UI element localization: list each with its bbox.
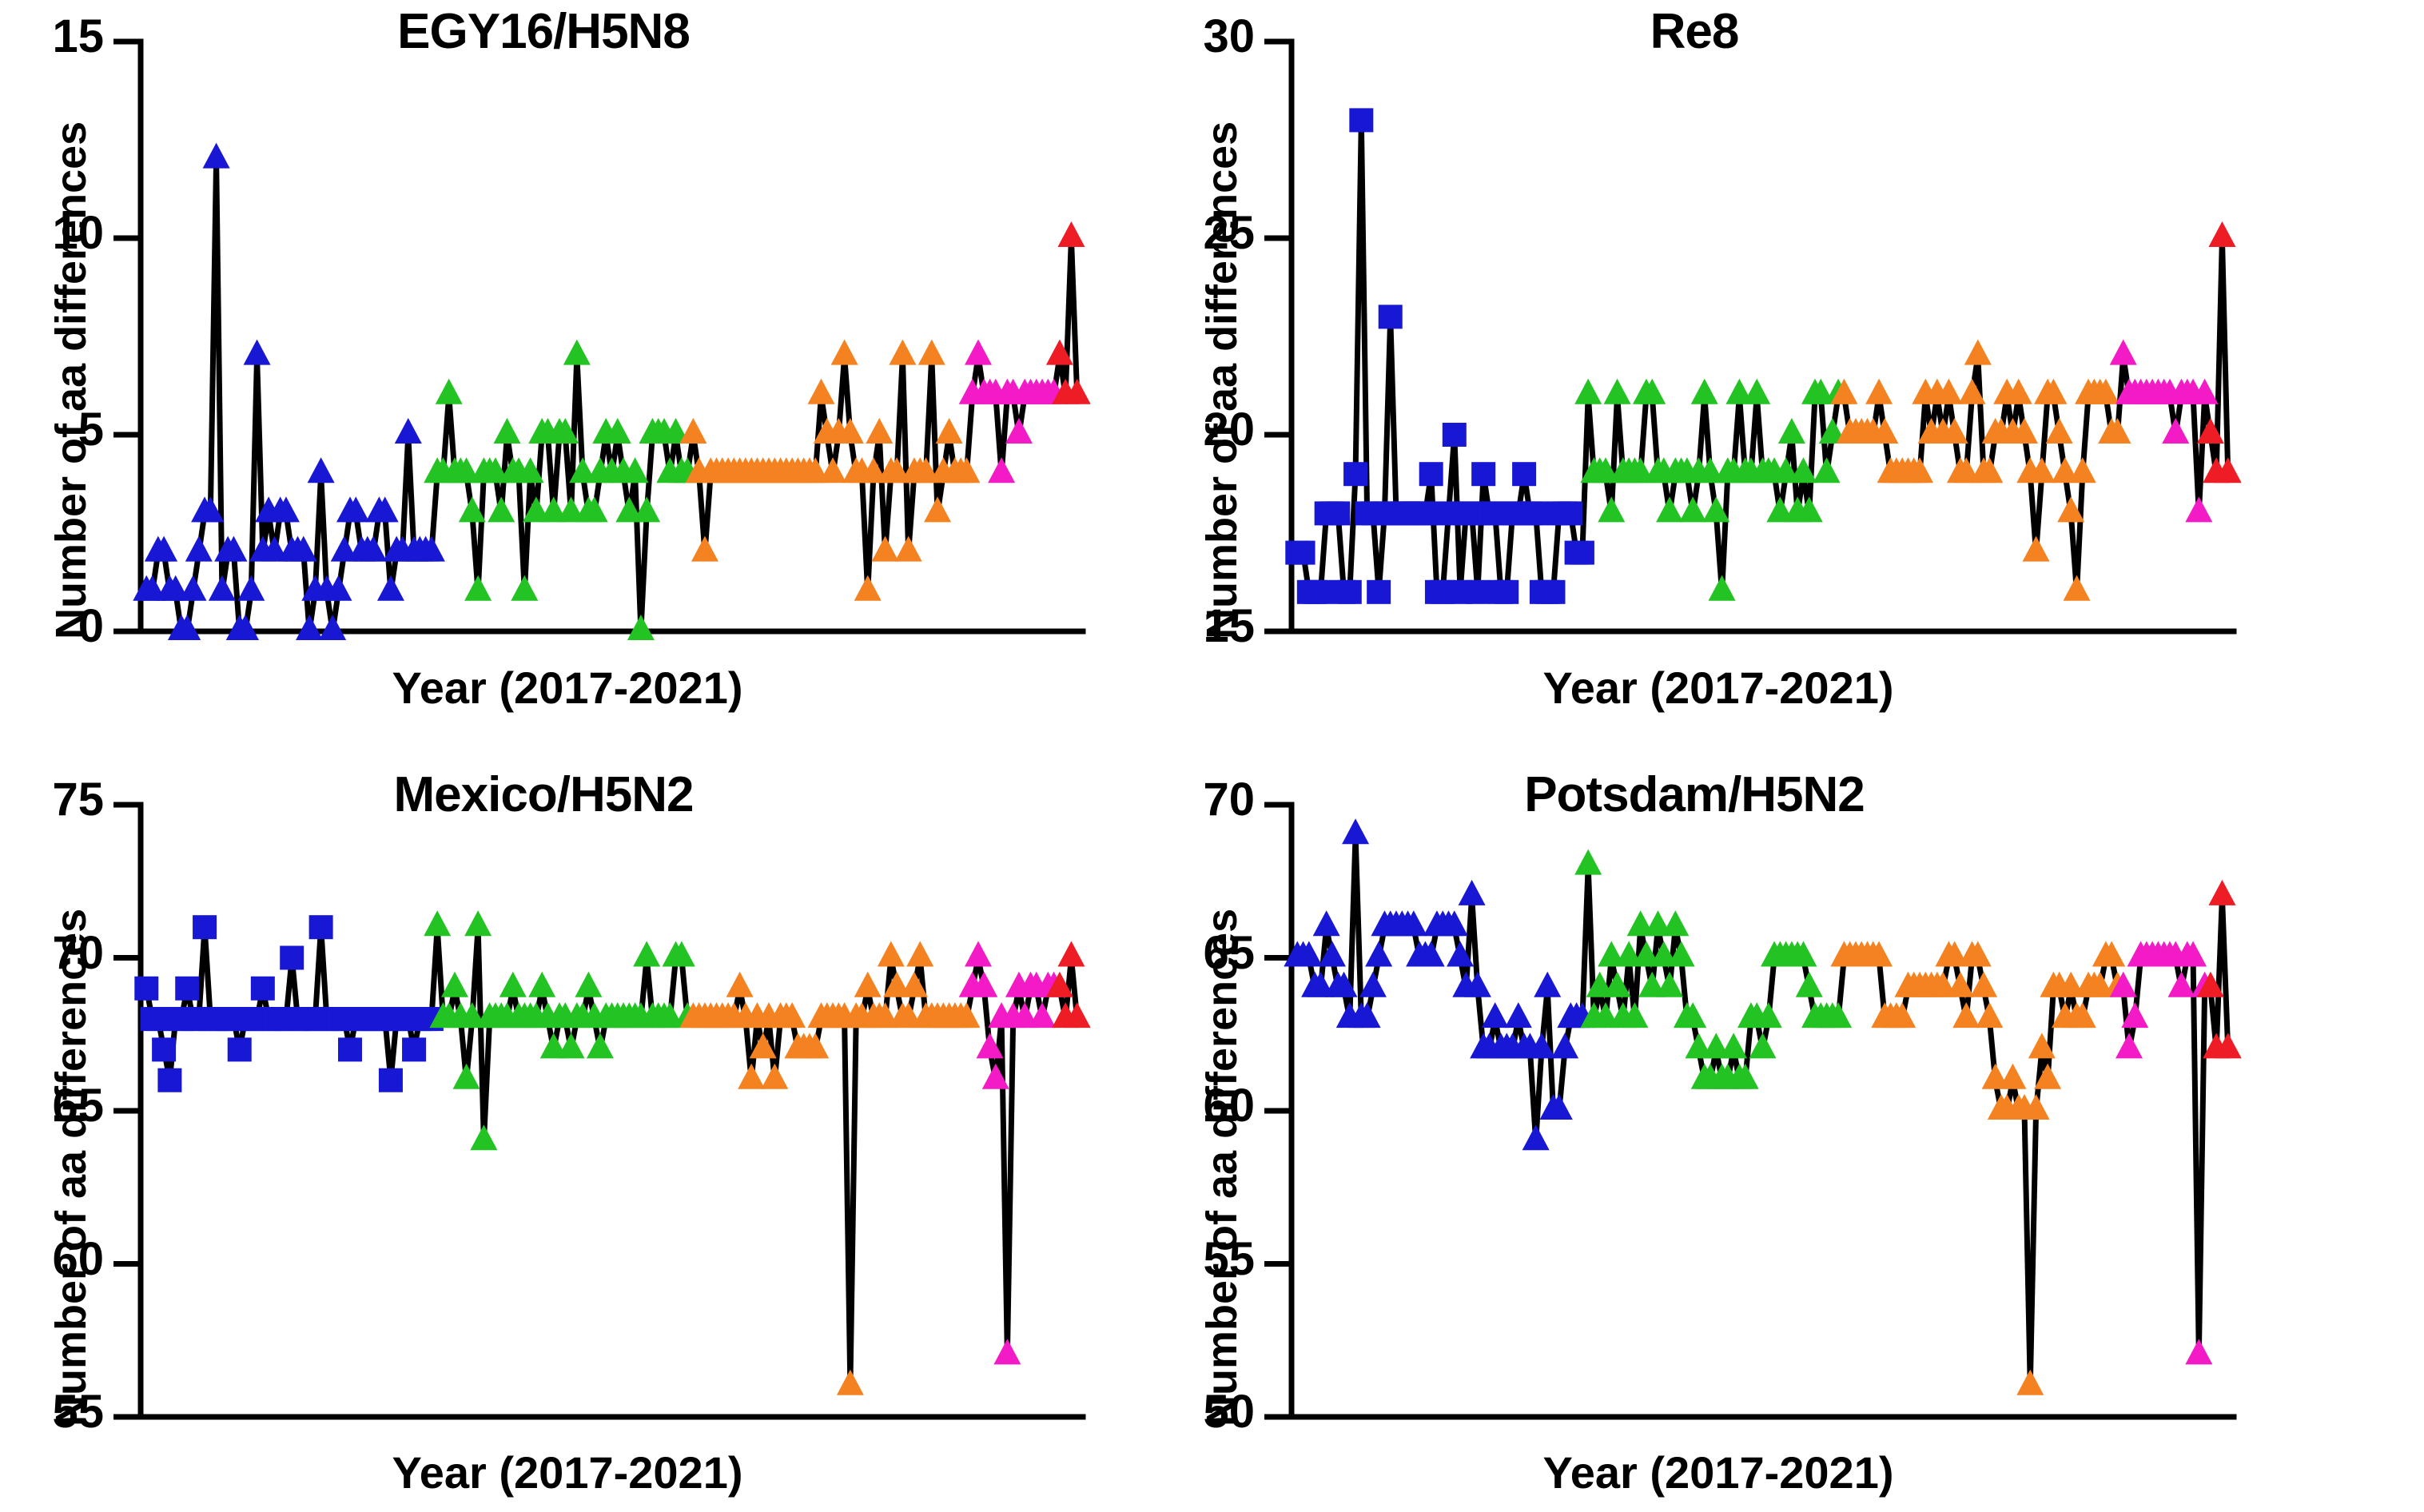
data-point-marker bbox=[878, 941, 905, 967]
data-point-marker bbox=[993, 1339, 1021, 1364]
data-point-marker bbox=[889, 340, 916, 365]
data-point-marker bbox=[837, 1370, 864, 1395]
plot-area-re8 bbox=[1151, 0, 2318, 703]
data-point-marker bbox=[1326, 501, 1350, 525]
data-point-marker bbox=[575, 972, 602, 997]
data-point-marker bbox=[180, 575, 207, 601]
series-connector-line bbox=[146, 927, 1077, 1387]
data-point-marker bbox=[1367, 580, 1391, 604]
panel-potsdam-h5n2: Potsdam/H5N2 Number of aa differences Ye… bbox=[1151, 763, 2318, 1510]
data-point-marker bbox=[500, 972, 527, 997]
data-point-marker bbox=[1534, 972, 1561, 997]
data-point-marker bbox=[1691, 379, 1718, 404]
data-point-marker bbox=[726, 972, 754, 997]
data-point-marker bbox=[1308, 580, 1332, 604]
data-point-marker bbox=[338, 1037, 362, 1061]
data-point-marker bbox=[1542, 580, 1566, 604]
data-point-marker bbox=[587, 1033, 614, 1058]
data-point-marker bbox=[1379, 304, 1403, 328]
panel-re8: Re8 Number of aa differences Year (2017-… bbox=[1151, 0, 2318, 735]
data-point-marker bbox=[193, 915, 217, 939]
data-point-marker bbox=[918, 340, 945, 365]
data-point-marker bbox=[1656, 972, 1683, 997]
data-point-marker bbox=[831, 340, 858, 365]
data-point-marker bbox=[1778, 418, 1805, 444]
figure-root: EGY16/H5N8 Number of aa differences Year… bbox=[0, 0, 2424, 1512]
data-point-marker bbox=[627, 615, 655, 640]
data-point-marker bbox=[2023, 536, 2050, 562]
data-point-marker bbox=[1057, 941, 1085, 967]
data-point-marker bbox=[924, 496, 951, 522]
data-point-marker bbox=[1482, 1002, 1509, 1028]
data-point-marker bbox=[906, 941, 933, 967]
data-point-marker bbox=[1999, 1064, 2026, 1089]
data-point-marker bbox=[2185, 1339, 2212, 1364]
data-point-marker bbox=[185, 536, 213, 562]
data-point-marker bbox=[1679, 496, 1706, 522]
data-point-marker bbox=[296, 615, 323, 640]
data-point-marker bbox=[1656, 496, 1683, 522]
data-point-marker bbox=[854, 575, 882, 601]
data-point-marker bbox=[237, 575, 265, 601]
data-point-marker bbox=[1495, 580, 1518, 604]
data-point-marker bbox=[633, 941, 660, 967]
data-point-marker bbox=[1057, 221, 1085, 247]
data-point-marker bbox=[1976, 1002, 2003, 1028]
data-point-marker bbox=[1505, 1002, 1532, 1028]
data-point-marker bbox=[2208, 221, 2235, 247]
data-point-marker bbox=[1574, 850, 1602, 875]
data-point-marker bbox=[319, 615, 346, 640]
data-point-marker bbox=[1313, 910, 1340, 936]
data-point-marker bbox=[1749, 1033, 1777, 1058]
data-point-marker bbox=[1524, 501, 1548, 525]
data-point-marker bbox=[511, 575, 538, 601]
data-point-marker bbox=[965, 941, 992, 967]
data-point-marker bbox=[988, 457, 1015, 483]
data-point-marker bbox=[203, 143, 230, 169]
data-point-marker bbox=[1598, 496, 1625, 522]
data-point-marker bbox=[2185, 496, 2212, 522]
data-point-marker bbox=[1964, 340, 1992, 365]
data-point-marker bbox=[470, 1124, 497, 1150]
data-point-marker bbox=[1419, 462, 1443, 486]
panel-mexico-h5n2: Mexico/H5N2 Number of aa differences Yea… bbox=[0, 763, 1167, 1510]
data-point-marker bbox=[819, 457, 846, 483]
data-point-marker bbox=[895, 536, 922, 562]
data-point-marker bbox=[436, 379, 463, 404]
data-point-marker bbox=[808, 379, 835, 404]
data-point-marker bbox=[866, 418, 893, 444]
data-point-marker bbox=[2046, 418, 2073, 444]
panel-egy16-h5n8: EGY16/H5N8 Number of aa differences Year… bbox=[0, 0, 1167, 735]
data-point-marker bbox=[1662, 910, 1689, 936]
data-point-marker bbox=[1709, 575, 1736, 601]
plot-area-potsdam-h5n2 bbox=[1151, 763, 2318, 1486]
data-point-marker bbox=[1338, 580, 1362, 604]
data-point-marker bbox=[494, 418, 521, 444]
data-point-marker bbox=[1970, 972, 1997, 997]
data-point-marker bbox=[424, 910, 451, 936]
data-point-marker bbox=[1292, 541, 1315, 565]
data-point-marker bbox=[377, 575, 404, 601]
data-point-marker bbox=[1522, 1124, 1550, 1150]
data-point-marker bbox=[395, 418, 422, 444]
data-point-marker bbox=[563, 340, 591, 365]
data-point-marker bbox=[1443, 423, 1467, 447]
data-point-marker bbox=[1342, 818, 1369, 844]
data-point-marker bbox=[209, 575, 236, 601]
data-point-marker bbox=[2064, 575, 2091, 601]
data-point-marker bbox=[1005, 418, 1033, 444]
data-point-marker bbox=[965, 340, 992, 365]
data-point-marker bbox=[464, 910, 492, 936]
data-point-marker bbox=[441, 972, 468, 997]
data-point-marker bbox=[402, 1037, 426, 1061]
data-point-marker bbox=[1349, 108, 1373, 132]
data-point-marker bbox=[280, 946, 304, 970]
data-point-marker bbox=[1471, 462, 1495, 486]
data-point-marker bbox=[1551, 1033, 1578, 1058]
data-point-marker bbox=[2208, 880, 2235, 905]
data-point-marker bbox=[1865, 379, 1893, 404]
data-point-marker bbox=[2016, 1370, 2044, 1395]
data-point-marker bbox=[244, 340, 271, 365]
data-point-marker bbox=[528, 972, 555, 997]
data-point-marker bbox=[464, 575, 492, 601]
data-point-marker bbox=[1029, 1002, 1056, 1028]
data-point-marker bbox=[1796, 972, 1823, 997]
data-point-marker bbox=[854, 972, 882, 997]
data-point-marker bbox=[738, 1064, 765, 1089]
data-point-marker bbox=[1365, 941, 1392, 967]
data-point-marker bbox=[152, 1037, 176, 1061]
data-point-marker bbox=[1512, 462, 1536, 486]
data-point-marker bbox=[2069, 457, 2096, 483]
data-point-marker bbox=[1813, 457, 1841, 483]
data-point-marker bbox=[679, 418, 707, 444]
data-point-marker bbox=[1359, 972, 1387, 997]
data-point-marker bbox=[1574, 379, 1602, 404]
data-point-marker bbox=[175, 977, 199, 1001]
data-point-marker bbox=[157, 1068, 181, 1092]
data-point-marker bbox=[691, 536, 718, 562]
data-point-marker bbox=[251, 977, 275, 1001]
plot-area-egy16-h5n8 bbox=[0, 0, 1167, 703]
data-point-marker bbox=[1343, 462, 1367, 486]
data-point-marker bbox=[1952, 1002, 1980, 1028]
data-point-marker bbox=[134, 977, 158, 1001]
data-point-marker bbox=[1466, 580, 1490, 604]
data-point-marker bbox=[1413, 501, 1437, 525]
data-point-marker bbox=[2116, 1033, 2143, 1058]
data-point-marker bbox=[453, 1064, 480, 1089]
data-point-marker bbox=[2110, 340, 2137, 365]
data-point-marker bbox=[1743, 379, 1770, 404]
data-point-marker bbox=[1558, 501, 1582, 525]
data-point-marker bbox=[379, 1068, 403, 1092]
data-point-marker bbox=[558, 1033, 585, 1058]
plot-area-mexico-h5n2 bbox=[0, 763, 1167, 1486]
data-point-marker bbox=[1459, 880, 1486, 905]
data-point-marker bbox=[936, 418, 963, 444]
data-point-marker bbox=[309, 915, 333, 939]
data-point-marker bbox=[761, 1064, 788, 1089]
data-point-marker bbox=[872, 536, 899, 562]
data-point-marker bbox=[1570, 541, 1594, 565]
data-point-marker bbox=[2162, 418, 2189, 444]
data-point-marker bbox=[308, 457, 335, 483]
data-point-marker bbox=[1720, 1033, 1747, 1058]
data-point-marker bbox=[228, 1037, 252, 1061]
data-point-marker bbox=[1604, 379, 1631, 404]
data-point-marker bbox=[488, 496, 515, 522]
